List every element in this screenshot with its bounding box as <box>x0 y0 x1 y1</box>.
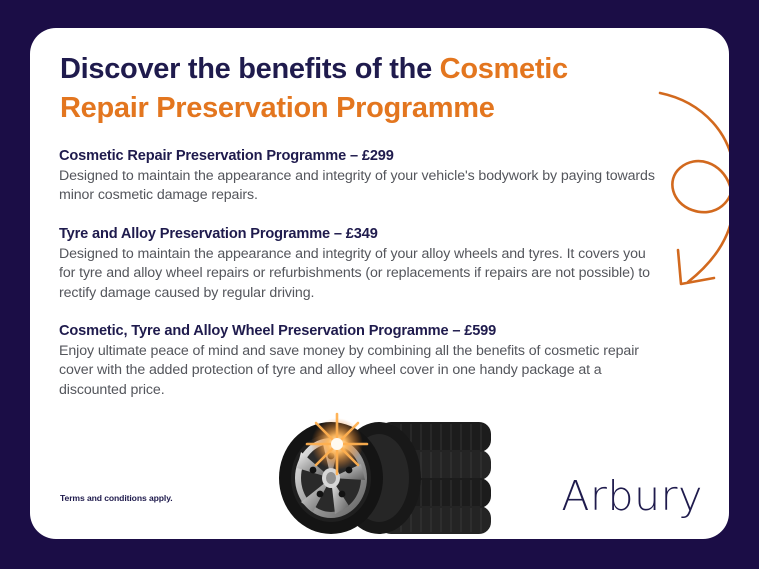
headline-accent-cosmetic: Cosmetic <box>440 53 568 85</box>
headline-accent-line2: Repair Preservation Programme <box>60 92 495 124</box>
benefit-title: Cosmetic Repair Preservation Programme –… <box>59 146 659 166</box>
page-title: Discover the benefits of the Cosmetic Re… <box>60 50 640 128</box>
headline-plain-text: Discover the benefits of the <box>60 53 440 85</box>
terms-and-conditions-text: Terms and conditions apply. <box>60 493 173 503</box>
benefits-list: Cosmetic Repair Preservation Programme –… <box>59 146 659 400</box>
benefit-body: Designed to maintain the appearance and … <box>59 245 659 303</box>
poster: Discover the benefits of the Cosmetic Re… <box>0 0 759 569</box>
benefit-title: Cosmetic, Tyre and Alloy Wheel Preservat… <box>59 321 659 341</box>
benefit-section: Cosmetic Repair Preservation Programme –… <box>59 146 659 206</box>
orange-starburst-icon <box>307 414 367 474</box>
tyre-stack-alloy-wheel-image <box>275 406 505 539</box>
benefit-section: Tyre and Alloy Preservation Programme – … <box>59 224 659 303</box>
arbury-logo: Arbury <box>561 472 703 520</box>
benefit-body: Enjoy ultimate peace of mind and save mo… <box>59 342 659 400</box>
benefit-section: Cosmetic, Tyre and Alloy Wheel Preservat… <box>59 321 659 400</box>
content-card: Discover the benefits of the Cosmetic Re… <box>30 28 729 539</box>
benefit-title: Tyre and Alloy Preservation Programme – … <box>59 224 659 244</box>
benefit-body: Designed to maintain the appearance and … <box>59 167 659 206</box>
